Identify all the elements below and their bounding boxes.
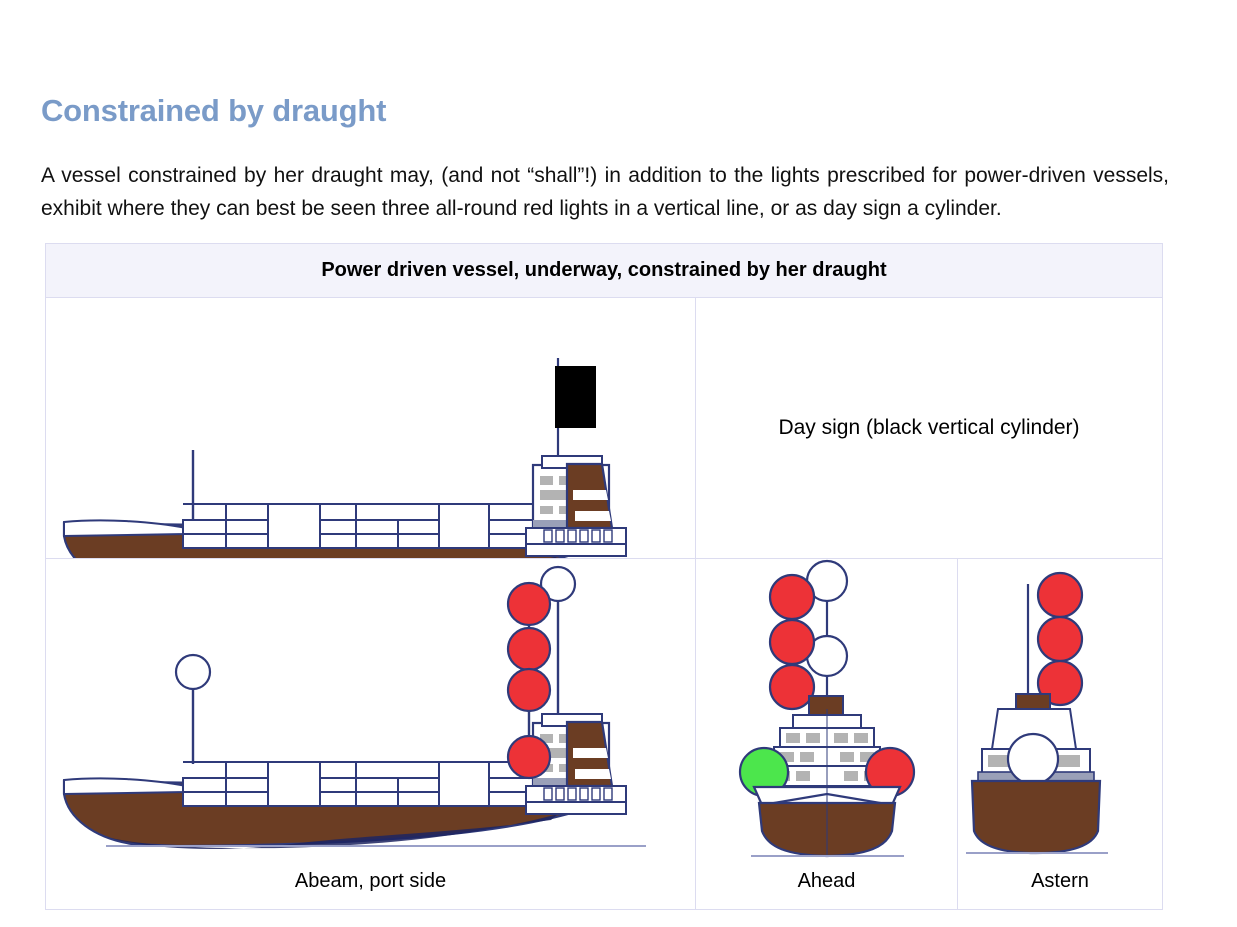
bow-deck [64,520,186,536]
side-view-ship-illustration [46,298,696,558]
abeam-port-side-illustration [46,559,696,869]
funnel-stripe-1 [573,748,608,758]
bow-deck [64,778,186,794]
funnel [809,696,843,716]
cell-ahead: Ahead [696,559,958,909]
page-root: Constrained by draught A vessel constrai… [0,0,1237,927]
red-light-lower [508,736,550,778]
day-sign-black-cylinder [555,366,596,428]
caption-ahead: Ahead [696,870,957,893]
funnel-stripe-2 [575,769,611,779]
funnel-stripe-2 [575,511,611,521]
white-stern-light [1008,734,1058,784]
red-light-2 [770,620,814,664]
stern-hull [972,781,1100,853]
cell-day-sign-label: Day sign (black vertical cylinder) [696,298,1162,558]
ahead-view-illustration [696,559,958,869]
day-sign-label: Day sign (black vertical cylinder) [778,416,1079,440]
red-light-3 [770,665,814,709]
red-light-2 [508,628,550,670]
red-light-3 [508,669,550,711]
caption-abeam: Abeam, port side [46,870,695,893]
cell-side-view-ship [46,298,696,558]
deck-structure [183,504,543,548]
red-light-1 [770,575,814,619]
table-row: Day sign (black vertical cylinder) [46,298,1162,559]
table-header-row: Power driven vessel, underway, constrain… [46,244,1162,298]
body-paragraph: A vessel constrained by her draught may,… [41,159,1169,225]
white-masthead-light-forward [176,655,210,689]
astern-view-illustration [958,559,1163,869]
table-header-title: Power driven vessel, underway, constrain… [321,259,886,282]
caption-astern: Astern [958,870,1162,893]
funnel-stripe-1 [573,490,608,500]
lights-table: Power driven vessel, underway, constrain… [45,243,1163,910]
table-row: Abeam, port side [46,559,1162,909]
cell-astern: Astern [958,559,1162,909]
red-light-1 [508,583,550,625]
deck-structure [183,762,543,806]
red-light-2 [1038,617,1082,661]
cell-abeam-port-side: Abeam, port side [46,559,696,909]
red-light-1 [1038,573,1082,617]
page-title: Constrained by draught [41,93,386,129]
